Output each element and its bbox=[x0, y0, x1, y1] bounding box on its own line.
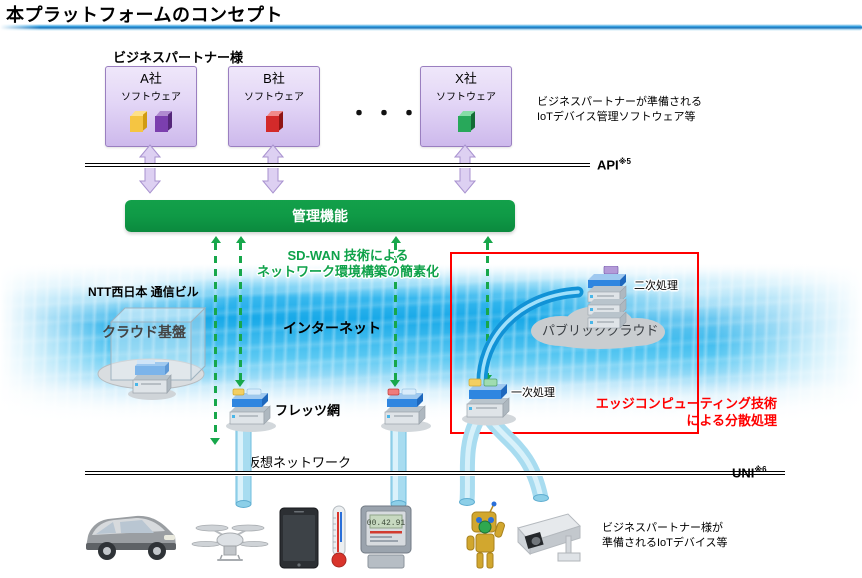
smart-meter-icon: 00.42.91 bbox=[358, 505, 414, 569]
partner-note-line2: IoTデバイス管理ソフトウェア等 bbox=[537, 110, 702, 125]
edge-computing-caption: エッジコンピューティング技術 による分散処理 bbox=[567, 395, 777, 429]
software-cube-icon bbox=[266, 111, 283, 133]
iot-device-note-line2: 準備されるIoTデバイス等 bbox=[602, 536, 728, 551]
sdwan-arrow-tip-4 bbox=[483, 236, 493, 243]
sdwan-arrow-tip-2b bbox=[235, 380, 245, 387]
partner-name: A社 bbox=[106, 71, 196, 86]
thermometer-icon bbox=[325, 504, 353, 570]
partner-box-a[interactable]: A社 ソフトウェア bbox=[105, 66, 197, 147]
iot-device-note: ビジネスパートナー様が 準備されるIoTデバイス等 bbox=[602, 521, 728, 551]
partner-ellipsis: ・・・ bbox=[348, 96, 423, 128]
partner-sub: ソフトウェア bbox=[229, 92, 319, 103]
management-function-label: 管理機能 bbox=[292, 208, 348, 224]
security-camera-icon bbox=[512, 508, 588, 570]
partner-sub: ソフトウェア bbox=[421, 92, 511, 103]
title-divider bbox=[0, 24, 862, 31]
drone-icon bbox=[190, 515, 270, 563]
sdwan-caption: SD-WAN 技術による ネットワーク環境構築の簡素化 bbox=[243, 248, 453, 280]
sdwan-arrow-tip-1b bbox=[210, 438, 220, 445]
svg-text:00.42.91: 00.42.91 bbox=[367, 519, 406, 528]
uni-label-text: UNI bbox=[732, 465, 754, 480]
iot-device-note-line1: ビジネスパートナー様が bbox=[602, 521, 728, 536]
cloud-base-label: クラウド基盤 bbox=[102, 322, 186, 342]
sdwan-arrow-shaft-1 bbox=[214, 243, 217, 438]
car-icon bbox=[80, 509, 180, 563]
internet-label: インターネット bbox=[283, 318, 381, 338]
primary-process-label: 一次処理 bbox=[511, 384, 555, 400]
software-cube-icon bbox=[130, 111, 147, 133]
api-double-arrow-b bbox=[262, 144, 284, 194]
api-rail-line bbox=[85, 163, 590, 168]
robot-icon bbox=[458, 500, 514, 570]
edge-caption-line2: による分散処理 bbox=[567, 412, 777, 429]
api-label-text: API bbox=[597, 157, 619, 172]
sdwan-caption-line2: ネットワーク環境構築の簡素化 bbox=[243, 264, 453, 280]
partner-box-x[interactable]: X社 ソフトウェア bbox=[420, 66, 512, 147]
uni-footnote-mark: ※6 bbox=[754, 465, 766, 474]
partner-box-b[interactable]: B社 ソフトウェア bbox=[228, 66, 320, 147]
software-cube-icon bbox=[155, 111, 172, 133]
virtual-network-label: 仮想ネットワーク bbox=[247, 452, 351, 471]
router-icon-flets-1 bbox=[222, 388, 280, 432]
secondary-process-label: 二次処理 bbox=[634, 277, 678, 293]
cloud-base-server-icon bbox=[125, 358, 179, 400]
sdwan-caption-line1: SD-WAN 技術による bbox=[243, 248, 453, 264]
router-icon-flets-2 bbox=[377, 388, 435, 432]
partner-sub: ソフトウェア bbox=[106, 92, 196, 103]
api-footnote-mark: ※5 bbox=[619, 157, 631, 166]
sdwan-arrow-tip-1 bbox=[211, 236, 221, 243]
flets-network-label: フレッツ網 bbox=[275, 400, 340, 419]
api-double-arrow-a bbox=[139, 144, 161, 194]
sdwan-arrow-tip-3 bbox=[391, 236, 401, 243]
business-partner-group-label: ビジネスパートナー様 bbox=[113, 47, 243, 66]
edge-caption-line1: エッジコンピューティング技術 bbox=[567, 395, 777, 412]
api-label: API※5 bbox=[597, 157, 631, 172]
management-function-box[interactable]: 管理機能 bbox=[125, 200, 515, 232]
public-cloud-server-stack-icon bbox=[578, 266, 640, 332]
sdwan-arrow-tip-2 bbox=[236, 236, 246, 243]
smartphone-icon bbox=[278, 507, 320, 569]
uni-rail-line bbox=[85, 471, 785, 476]
ntt-building-label: NTT西日本 通信ビル bbox=[88, 283, 199, 300]
partner-software-note: ビジネスパートナーが準備される IoTデバイス管理ソフトウェア等 bbox=[537, 95, 702, 125]
uni-label: UNI※6 bbox=[732, 465, 767, 480]
software-cube-icon bbox=[458, 111, 475, 133]
sdwan-arrow-tip-3b bbox=[390, 380, 400, 387]
partner-name: B社 bbox=[229, 71, 319, 86]
sdwan-arrow-shaft-2 bbox=[239, 243, 242, 380]
api-double-arrow-x bbox=[454, 144, 476, 194]
partner-note-line1: ビジネスパートナーが準備される bbox=[537, 95, 702, 110]
partner-name: X社 bbox=[421, 71, 511, 86]
